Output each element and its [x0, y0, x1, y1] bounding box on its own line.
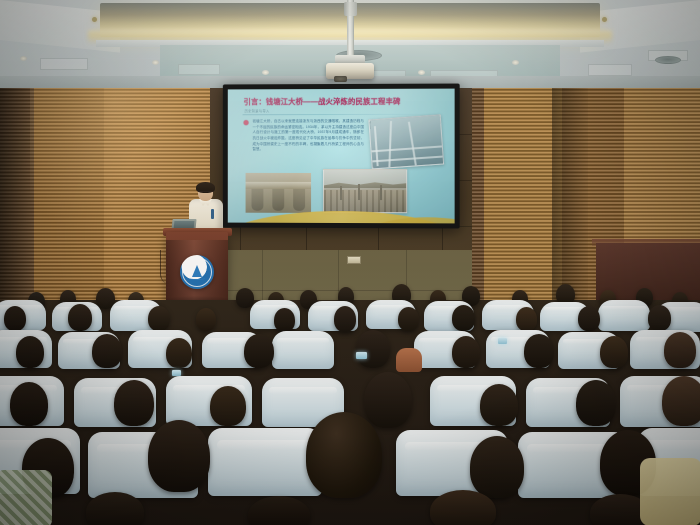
- audience-head: [364, 372, 412, 428]
- ceiling-downlight: [152, 60, 159, 65]
- slide-title: 引言：钱塘江大桥——战火淬炼的民族工程丰碑: [244, 98, 444, 107]
- audience-head: [210, 386, 246, 426]
- audience-head: [334, 306, 356, 332]
- podium-cable: [160, 250, 172, 284]
- photo-post: [340, 186, 342, 200]
- bridge-pier: [293, 189, 305, 211]
- audience-patterned-clothing: [0, 470, 52, 525]
- audience-head: [470, 436, 524, 498]
- projector-pole-collar: [344, 2, 357, 16]
- ceiling-fixture-dot: [92, 17, 97, 22]
- audience-head: [600, 336, 628, 368]
- bridge-pier: [272, 189, 284, 211]
- slide-title-rule: [243, 114, 441, 115]
- ceiling: [0, 0, 700, 92]
- ceiling-downlight: [262, 70, 269, 75]
- audience-head: [396, 348, 422, 372]
- audience-head: [356, 330, 390, 368]
- photo-post: [358, 184, 360, 200]
- ceiling-downlight: [512, 60, 519, 65]
- audience-head: [148, 306, 170, 331]
- bridge-pier: [252, 189, 264, 211]
- audience-head: [648, 305, 671, 331]
- audience-head: [10, 382, 48, 426]
- audience-head: [480, 384, 518, 426]
- slide-subtitle: 历史背景与导入: [245, 108, 270, 113]
- audience-head: [274, 308, 295, 332]
- audience-head: [92, 334, 122, 368]
- projection-screen-bezel: 引言：钱塘江大桥——战火淬炼的民族工程丰碑 历史背景与导入 钱塘江大桥，自古以来…: [223, 84, 460, 229]
- ceiling-access-panel: [40, 58, 88, 70]
- audience-seat[interactable]: [598, 300, 650, 331]
- audience-head: [86, 492, 144, 525]
- audience-head: [664, 332, 696, 368]
- slide-body-text: 钱塘江大桥，自古以来就是连接浙东与浙西的交通咽喉，其建造历程与一个不屈的民族的命…: [252, 119, 364, 153]
- ceiling-downlight: [418, 70, 425, 75]
- bridge-span-photo: [246, 173, 312, 213]
- projector-lens: [334, 76, 347, 82]
- air-vent: [655, 56, 681, 64]
- wall-power-socket[interactable]: [347, 256, 361, 264]
- audience-head: [306, 412, 382, 498]
- handheld-microphone: [211, 209, 214, 219]
- audience-head: [516, 307, 537, 331]
- audience-head: [662, 376, 700, 426]
- audience-head: [398, 307, 419, 331]
- photo-post: [380, 185, 382, 200]
- audience-head: [148, 420, 210, 492]
- audience-head: [452, 336, 480, 368]
- ceiling-access-panel: [178, 64, 220, 75]
- audience-head: [430, 490, 496, 525]
- phone-screen-glow: [356, 352, 367, 359]
- lecture-hall-photo: 引言：钱塘江大桥——战火淬炼的民族工程丰碑 历史背景与导入 钱塘江大桥，自古以来…: [0, 0, 700, 525]
- slide-bullet-icon: [244, 120, 249, 125]
- audience-head: [4, 306, 26, 331]
- university-sailboat-emblem: [180, 255, 214, 289]
- ceiling-access-panel: [588, 64, 632, 76]
- sailboat-icon: [192, 265, 202, 277]
- railway-track-photo: [323, 169, 407, 213]
- audience-head: [452, 305, 475, 331]
- photo-railway-track: [324, 190, 406, 212]
- wave-icon: [189, 276, 206, 280]
- audience-head: [244, 334, 274, 368]
- bridge-truss-photo: [368, 114, 444, 169]
- eyeglasses-icon: [198, 191, 213, 195]
- audience-head: [114, 380, 154, 426]
- audience-seat[interactable]: [272, 331, 334, 369]
- audience-seat[interactable]: [208, 428, 322, 496]
- audience-head: [68, 304, 92, 331]
- projection-screen: 引言：钱塘江大桥——战火淬炼的民族工程丰碑 历史背景与导入 钱塘江大桥，自古以来…: [228, 89, 455, 224]
- audience-clothing: [640, 458, 700, 525]
- audience-head: [16, 336, 44, 368]
- audience-head: [196, 308, 216, 331]
- ceiling-downlight: [20, 56, 27, 61]
- audience-head: [524, 334, 554, 368]
- audience-head: [576, 380, 616, 426]
- audience-head: [236, 288, 254, 308]
- wall-shadow-left: [0, 88, 34, 328]
- audience-head: [578, 306, 600, 331]
- phone-screen-glow: [498, 338, 507, 344]
- ceiling-fixture-dot: [602, 17, 607, 22]
- audience-head: [166, 338, 192, 368]
